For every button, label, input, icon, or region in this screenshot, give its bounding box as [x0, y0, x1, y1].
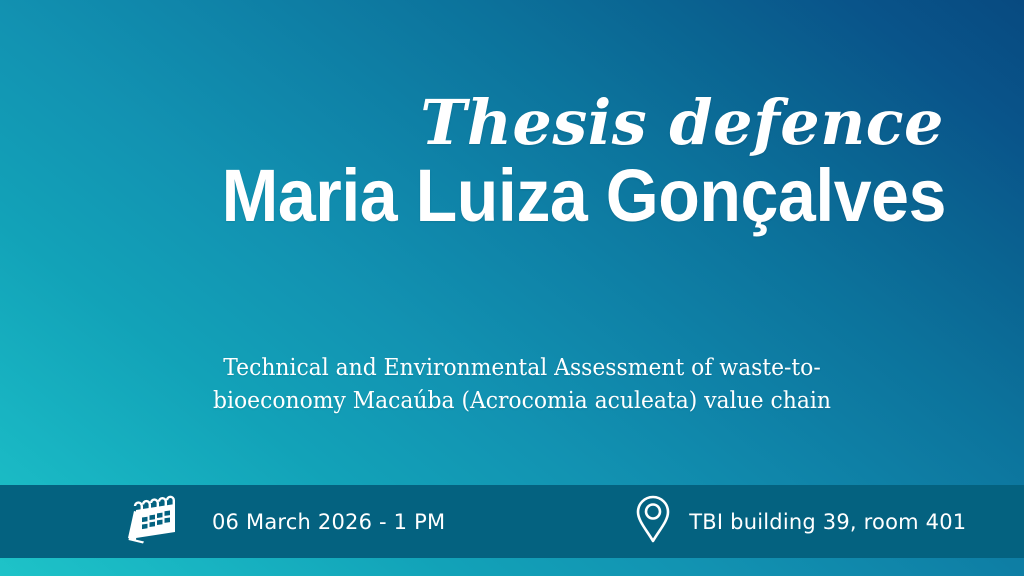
location-info: TBI building 39, room 401 [635, 494, 966, 549]
calendar-icon [124, 494, 180, 549]
date-info: 06 March 2026 - 1 PM [124, 494, 445, 549]
date-text: 06 March 2026 - 1 PM [212, 510, 445, 534]
kicker-thesis-defence: Thesis defence [0, 92, 946, 154]
location-text: TBI building 39, room 401 [689, 510, 966, 534]
headline-block: Thesis defence Maria Luiza Gonçalves [0, 92, 946, 233]
candidate-name: Maria Luiza Gonçalves [76, 158, 946, 233]
map-pin-icon [635, 494, 671, 549]
info-bar: 06 March 2026 - 1 PM TBI building 39, ro… [0, 485, 1024, 558]
thesis-title: Technical and Environmental Assessment o… [159, 352, 885, 417]
thesis-defence-poster: Thesis defence Maria Luiza Gonçalves Tec… [0, 0, 1024, 576]
